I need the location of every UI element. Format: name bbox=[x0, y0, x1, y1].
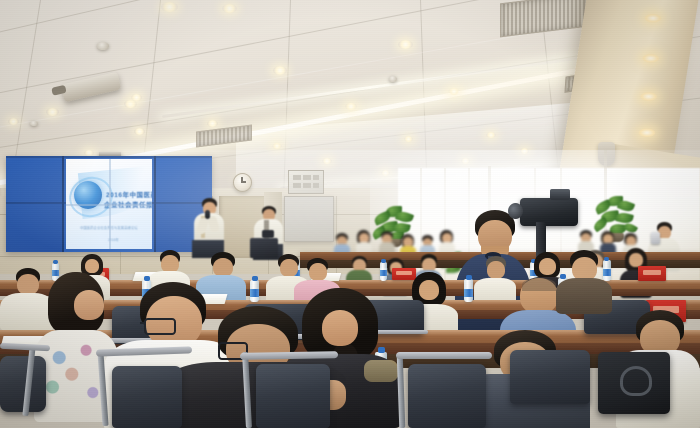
water-bottle bbox=[464, 279, 473, 302]
microphone bbox=[205, 210, 210, 219]
downlight bbox=[207, 120, 218, 127]
smoke-detector bbox=[389, 76, 397, 82]
wall-clock bbox=[233, 173, 252, 192]
handheld-camera bbox=[262, 230, 274, 238]
downlight bbox=[273, 66, 287, 75]
video-camera bbox=[520, 198, 578, 226]
smoke-detector bbox=[30, 121, 38, 126]
camera-bag bbox=[598, 352, 670, 414]
conference-room-photo: 2016年中国医药行业 企业社会责任报告 中国医药企业社会责任与发展高峰论坛 2… bbox=[0, 0, 700, 428]
office-chair[interactable] bbox=[408, 364, 486, 428]
downlight bbox=[486, 132, 496, 138]
water-bottle bbox=[380, 262, 387, 281]
downlight bbox=[124, 100, 137, 108]
presenter bbox=[192, 198, 226, 258]
downlight bbox=[131, 94, 142, 101]
downlight bbox=[46, 108, 59, 116]
downlight bbox=[8, 118, 19, 125]
water-bottle bbox=[250, 280, 259, 302]
smartphone bbox=[651, 232, 660, 244]
small-wall-display bbox=[288, 170, 324, 194]
office-chair[interactable] bbox=[112, 366, 182, 428]
smoke-detector bbox=[97, 42, 109, 50]
downlight bbox=[272, 143, 282, 149]
downlight bbox=[134, 128, 145, 135]
downlight bbox=[322, 158, 332, 164]
downlight bbox=[222, 4, 237, 13]
video-wall[interactable]: 2016年中国医药行业 企业社会责任报告 中国医药企业社会责任与发展高峰论坛 2… bbox=[6, 156, 212, 252]
audience-member bbox=[556, 250, 612, 312]
downlight bbox=[345, 103, 357, 110]
office-chair[interactable] bbox=[510, 350, 590, 404]
downlight bbox=[398, 40, 413, 49]
downlight bbox=[404, 136, 413, 142]
downlight bbox=[161, 2, 178, 12]
chair-arm bbox=[396, 352, 492, 359]
office-chair[interactable] bbox=[256, 364, 330, 428]
downlight bbox=[448, 88, 460, 95]
presentation-slide: 2016年中国医药行业 企业社会责任报告 中国医药企业社会责任与发展高峰论坛 2… bbox=[66, 159, 152, 249]
name-plate bbox=[638, 266, 666, 281]
whiteboard bbox=[284, 196, 334, 242]
slide-title-line-1: 2016年中国医药行业 bbox=[106, 189, 152, 199]
